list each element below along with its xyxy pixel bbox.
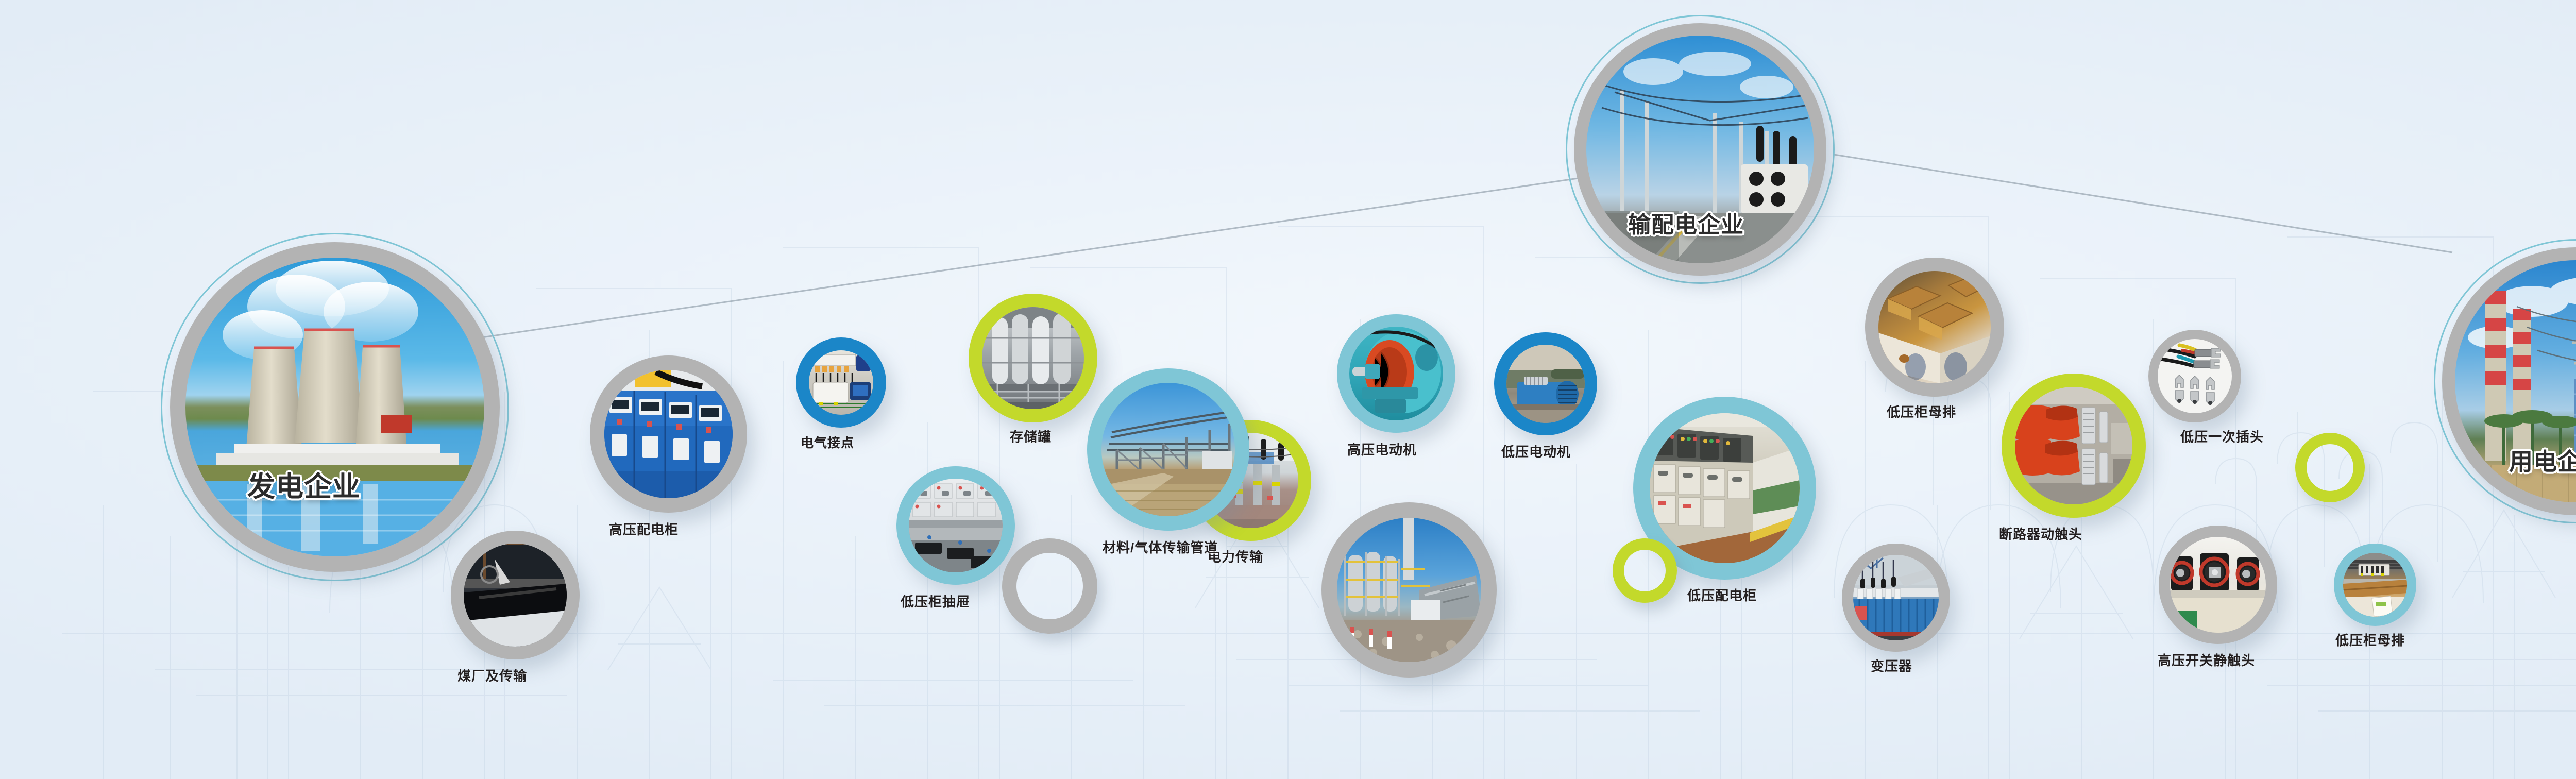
hero-caption-transmission-distribution: 输配电企业 (1628, 206, 1744, 239)
node-refinery-unit[interactable] (1321, 502, 1497, 678)
node-electrical-contact[interactable]: 电气接点 (796, 337, 886, 428)
node-lv-primary-plug[interactable]: 低压一次插头 (2148, 330, 2241, 422)
decorative-ring-green-mid (1613, 538, 1677, 603)
caption-hv-motor: 高压电动机 (1347, 439, 1417, 459)
caption-lv-motor: 低压电动机 (1501, 442, 1571, 461)
hero-node-power-generation[interactable]: 发电企业 (170, 242, 500, 572)
image-terminal-wiring (809, 350, 873, 415)
node-material-gas-pipeline[interactable]: 材料/气体传输管道 (1087, 368, 1249, 531)
caption-transformer: 变压器 (1871, 656, 1912, 675)
image-lv-drawer-panel (909, 479, 1003, 572)
caption-lv-cabinet-busbar-right: 低压柜母排 (2335, 630, 2405, 649)
caption-storage-tank: 存储罐 (1010, 427, 1052, 446)
caption-coal-plant-transport: 煤厂及传输 (457, 666, 527, 685)
caption-lv-distribution-cabinet: 低压配电柜 (1687, 585, 1757, 604)
node-hv-distribution-cabinet[interactable]: 高压配电柜 (590, 355, 747, 513)
node-coal-plant-transport[interactable]: 煤厂及传输 (451, 531, 580, 659)
hero-node-power-consumption[interactable]: 用电企业 (2442, 247, 2576, 515)
image-hv-motor (1349, 327, 1443, 420)
image-silo-tanks (982, 307, 1084, 409)
infographic-canvas: 发电企业 (0, 0, 2576, 779)
image-copper-busbars (1878, 271, 1991, 383)
node-lv-motor[interactable]: 低压电动机 (1494, 332, 1597, 435)
caption-lv-cabinet-drawer: 低压柜抽屉 (901, 591, 970, 611)
hero-caption-power-generation: 发电企业 (247, 464, 361, 504)
image-hv-static-contacts (2170, 537, 2266, 633)
image-red-breaker-contacts (2015, 387, 2132, 504)
node-breaker-moving-contact[interactable]: 断路器动触头 (2002, 374, 2146, 518)
node-lv-cabinet-busbar-right[interactable]: 低压柜母排 (2334, 544, 2416, 626)
caption-hv-switch-static-contact: 高压开关静触头 (2158, 650, 2255, 669)
caption-material-gas-pipeline: 材料/气体传输管道 (1103, 537, 1218, 556)
caption-hv-distribution-cabinet: 高压配电柜 (609, 519, 679, 538)
image-coal-conveyor (464, 544, 567, 647)
caption-breaker-moving-contact: 断路器动触头 (1999, 524, 2082, 543)
image-lv-motor (1506, 345, 1585, 423)
hero-caption-power-consumption: 用电企业 (2509, 443, 2576, 477)
image-plug-contacts (2158, 339, 2232, 413)
image-hv-switchgear (604, 370, 733, 498)
node-lv-cabinet-drawer[interactable]: 低压柜抽屉 (896, 466, 1015, 585)
hero-node-transmission-distribution[interactable]: 输配电企业 (1574, 23, 1826, 276)
caption-lv-cabinet-busbar-left: 低压柜母排 (1887, 402, 1956, 421)
node-hv-motor[interactable]: 高压电动机 (1337, 314, 1455, 433)
image-busbar-terminal-rail (2343, 553, 2407, 617)
node-transformer[interactable]: 变压器 (1842, 544, 1950, 652)
image-blue-transformer (1853, 555, 1939, 640)
caption-lv-primary-plug: 低压一次插头 (2180, 427, 2264, 446)
node-storage-tank[interactable]: 存储罐 (969, 294, 1097, 422)
image-pipe-rack (1101, 383, 1235, 516)
node-hv-switch-static-contact[interactable]: 高压开关静触头 (2159, 526, 2277, 644)
caption-electrical-contact: 电气接点 (801, 433, 854, 451)
image-lv-switchgear-row (1650, 413, 1800, 563)
decorative-ring-green-right (2295, 433, 2365, 502)
image-refinery-unit (1337, 518, 1481, 662)
decorative-ring-gray-left (1002, 538, 1097, 634)
node-lv-cabinet-busbar-left[interactable]: 低压柜母排 (1865, 258, 2004, 397)
hero-image-power-plant (185, 258, 484, 556)
